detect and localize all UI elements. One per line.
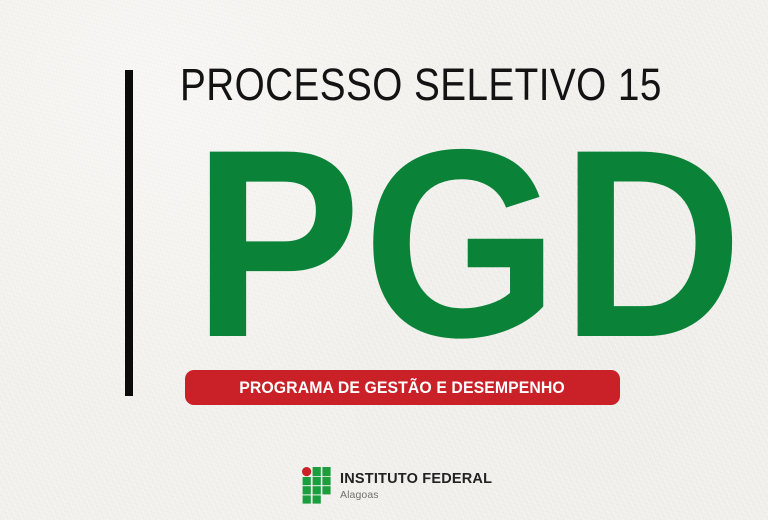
logo-wordmark: INSTITUTO FEDERAL Alagoas <box>340 472 492 501</box>
poster-canvas: PROCESSO SELETIVO 15 PGD PROGRAMA DE GES… <box>0 0 768 520</box>
subtitle-text: PROGRAMA DE GESTÃO E DESEMPENHO <box>240 378 566 398</box>
vertical-accent-bar <box>125 70 133 396</box>
ifal-logo-mark-icon <box>302 467 332 505</box>
subtitle-banner: PROGRAMA DE GESTÃO E DESEMPENHO <box>185 370 620 405</box>
logo-title: INSTITUTO FEDERAL <box>340 472 492 487</box>
acronym-heading: PGD <box>193 118 607 368</box>
logo-subtitle: Alagoas <box>340 490 492 501</box>
institution-logo: INSTITUTO FEDERAL Alagoas <box>302 467 492 505</box>
